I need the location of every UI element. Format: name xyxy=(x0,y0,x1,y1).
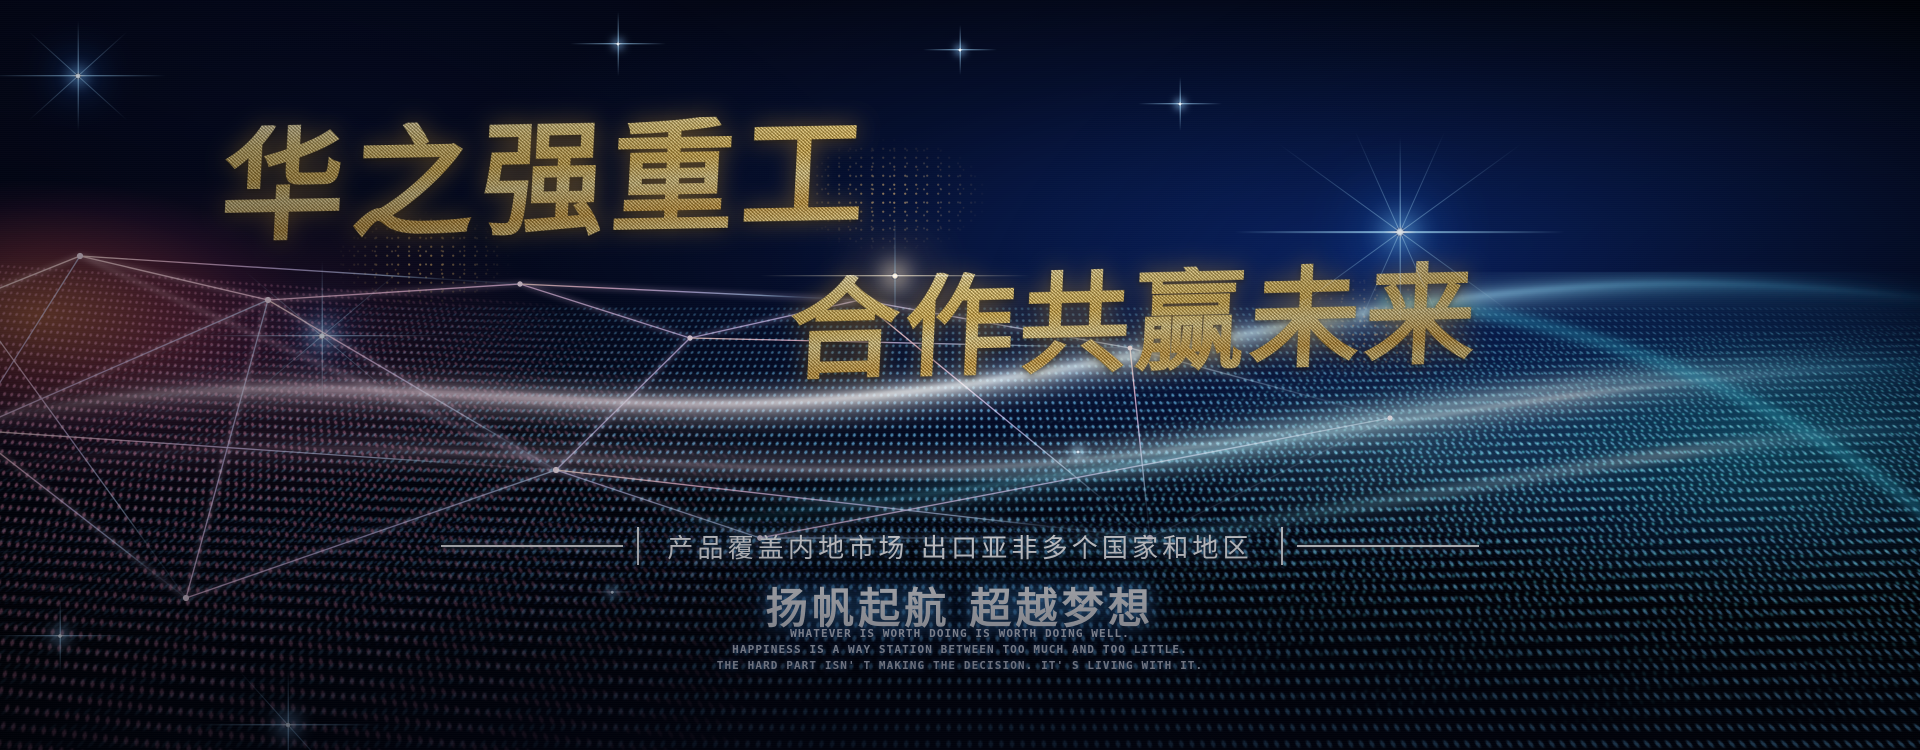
banner-canvas: 华之强重工 合作共赢未来 xyxy=(0,0,1920,750)
vignette-overlay xyxy=(0,0,1920,750)
